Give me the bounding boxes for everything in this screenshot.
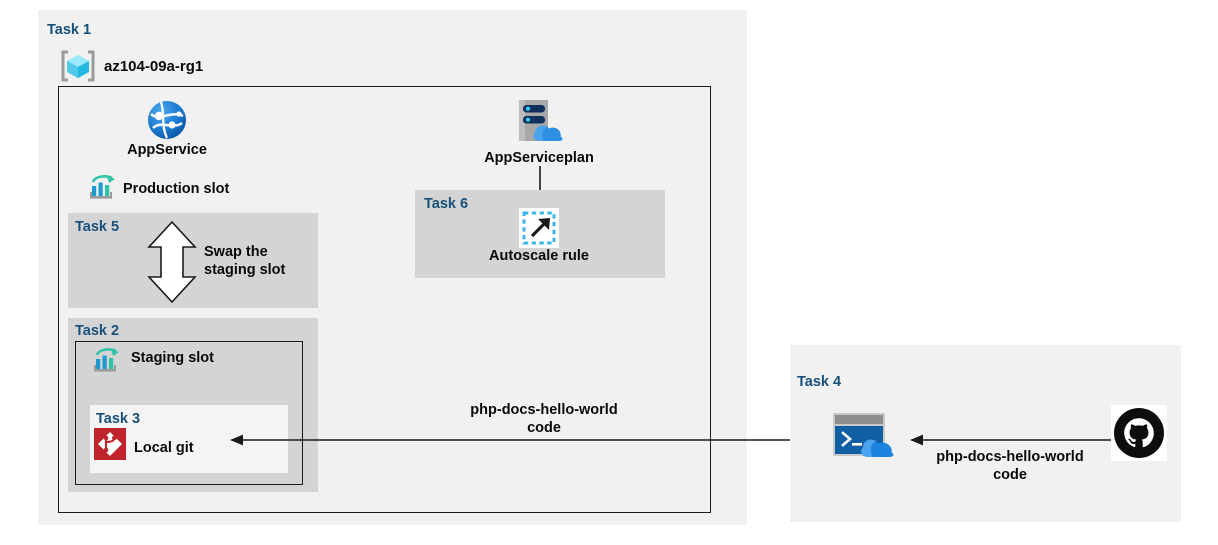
app-service-label: AppService: [107, 142, 227, 158]
shell-to-localgit-label-line2: code: [444, 420, 644, 436]
task6-label: Task 6: [424, 196, 468, 212]
deployment-slot-icon: [92, 347, 122, 375]
task2-label: Task 2: [75, 323, 119, 339]
staging-slot-label: Staging slot: [131, 350, 214, 366]
production-slot-label: Production slot: [123, 181, 229, 197]
deployment-slot-icon: [88, 174, 118, 202]
app-service-plan-icon: [510, 97, 568, 147]
task4-label: Task 4: [797, 374, 841, 390]
task5-label: Task 5: [75, 219, 119, 235]
app-service-plan-label: AppServiceplan: [459, 150, 619, 166]
shell-to-localgit-label-line1: php-docs-hello-world: [444, 402, 644, 418]
autoscale-rule-icon: [519, 208, 559, 248]
task3-label: Task 3: [96, 411, 140, 427]
swap-label-line2: staging slot: [204, 261, 285, 280]
github-to-shell-label-line2: code: [909, 467, 1111, 483]
github-to-shell-label-line1: php-docs-hello-world: [909, 449, 1111, 465]
left-arrow-icon: [910, 432, 1112, 448]
diagram-canvas: Task 1 az104-09a-rg1: [0, 0, 1218, 545]
task1-label: Task 1: [47, 22, 91, 38]
swap-arrow-icon: [146, 220, 198, 304]
resource-group-label: az104-09a-rg1: [104, 58, 203, 75]
cloud-shell-icon: [833, 413, 899, 458]
local-git-label: Local git: [134, 440, 194, 456]
autoscale-rule-label: Autoscale rule: [459, 248, 619, 264]
github-icon: [1111, 405, 1167, 461]
local-git-icon: [94, 428, 126, 460]
swap-label-line1: Swap the: [204, 243, 268, 262]
app-service-icon: [147, 100, 187, 140]
resource-group-icon: [60, 48, 96, 84]
